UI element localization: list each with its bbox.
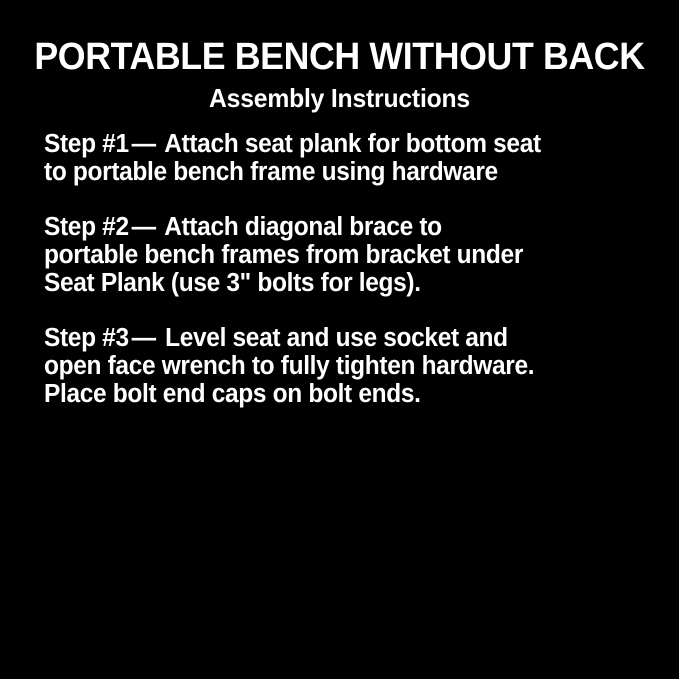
step-2-dash: — (129, 213, 159, 241)
step-2-text-line-3: Seat Plank (use 3" bolts for legs). (44, 269, 620, 297)
step-3-text-line-2: open face wrench to fully tighten hardwa… (44, 352, 620, 380)
step-3-dash: — (129, 324, 159, 352)
step-1-text-line-1: Attach seat plank for bottom seat (164, 130, 541, 158)
steps-list: Step #1— Attach seat plank for bottom se… (44, 130, 644, 408)
step-1-text-line-2: to portable bench frame using hardware (44, 158, 620, 186)
step-3-text-line-3: Place bolt end caps on bolt ends. (44, 380, 620, 408)
step-item-2: Step #2— Attach diagonal brace to portab… (44, 213, 620, 297)
step-2-line-1: Step #2— Attach diagonal brace to (44, 213, 620, 241)
step-2-label: Step #2 (44, 213, 129, 241)
page-title: PORTABLE BENCH WITHOUT BACK (20, 36, 658, 78)
step-item-3: Step #3— Level seat and use socket and o… (44, 324, 620, 408)
step-3-line-1: Step #3— Level seat and use socket and (44, 324, 620, 352)
instruction-poster: PORTABLE BENCH WITHOUT BACK Assembly Ins… (0, 0, 679, 679)
step-3-label: Step #3 (44, 324, 129, 352)
step-2-text-line-2: portable bench frames from bracket under (44, 241, 620, 269)
page-subtitle: Assembly Instructions (17, 83, 662, 113)
step-3-text-line-1: Level seat and use socket and (165, 324, 508, 352)
heading-block: PORTABLE BENCH WITHOUT BACK Assembly Ins… (0, 36, 679, 113)
step-2-text-line-1: Attach diagonal brace to (164, 213, 442, 241)
step-1-label: Step #1 (44, 130, 129, 158)
step-item-1: Step #1— Attach seat plank for bottom se… (44, 130, 620, 186)
step-1-dash: — (129, 130, 159, 158)
step-1-line-1: Step #1— Attach seat plank for bottom se… (44, 130, 620, 158)
